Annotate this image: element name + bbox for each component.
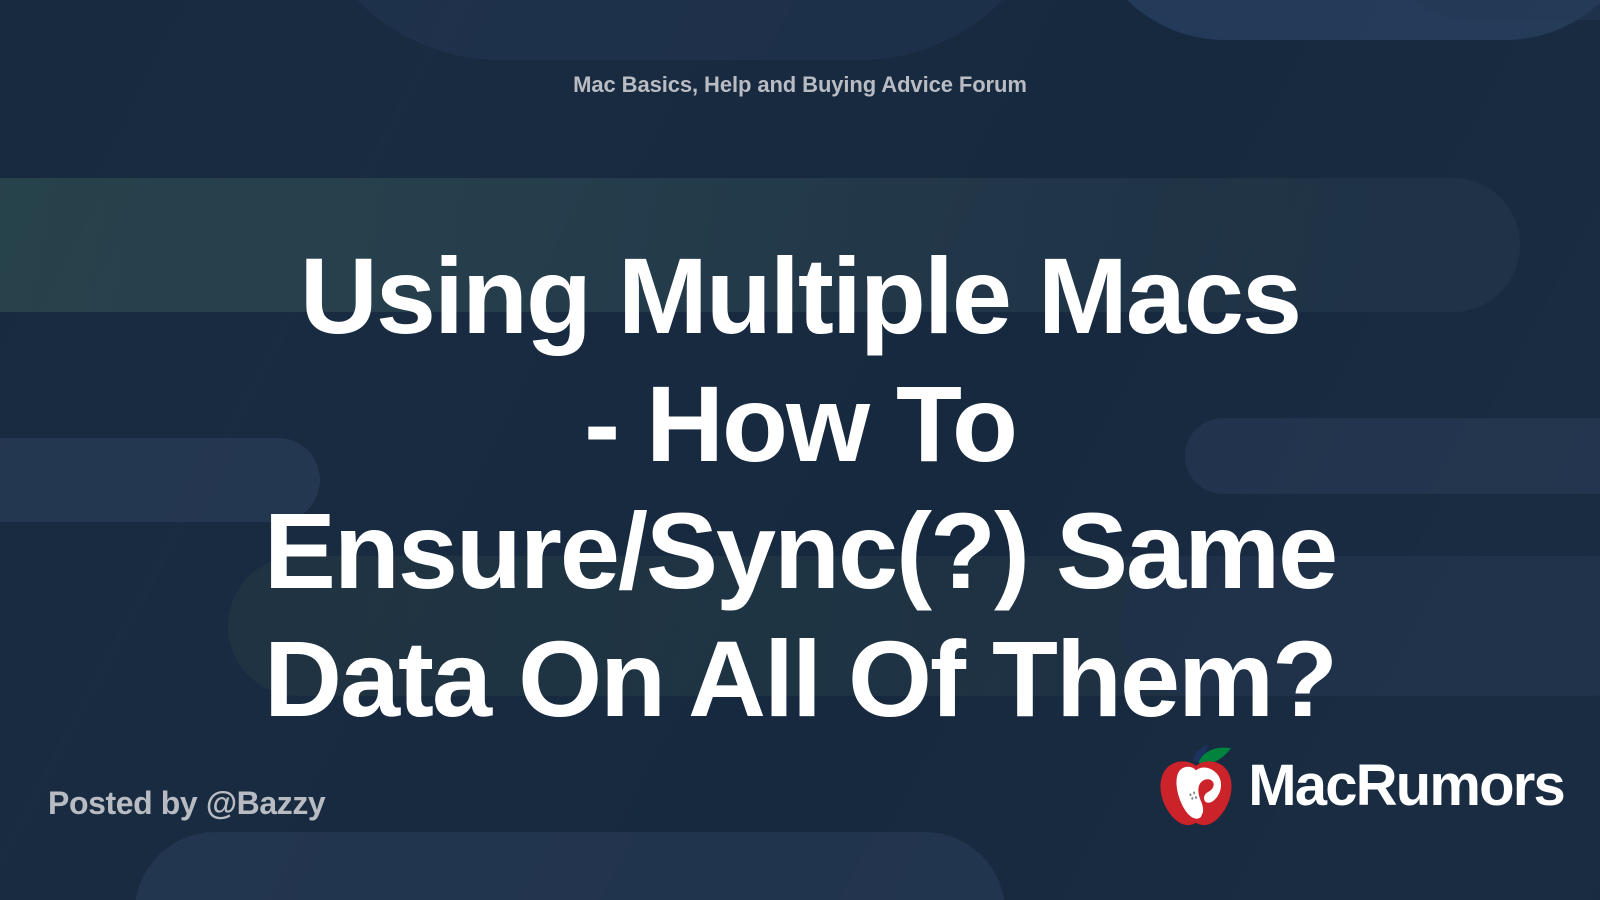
social-share-card: Mac Basics, Help and Buying Advice Forum… — [0, 0, 1600, 900]
forum-name-label: Mac Basics, Help and Buying Advice Forum — [0, 72, 1600, 98]
macrumors-apple-question-mark-logo-icon — [1150, 740, 1242, 832]
post-title: Using Multiple Macs - How To Ensure/Sync… — [60, 232, 1540, 742]
macrumors-wordmark: MacRumors — [1248, 757, 1564, 815]
macrumors-brand-lockup: MacRumors — [1150, 740, 1564, 832]
post-author-byline: Posted by @Bazzy — [48, 785, 325, 822]
card-content: Mac Basics, Help and Buying Advice Forum… — [0, 0, 1600, 900]
